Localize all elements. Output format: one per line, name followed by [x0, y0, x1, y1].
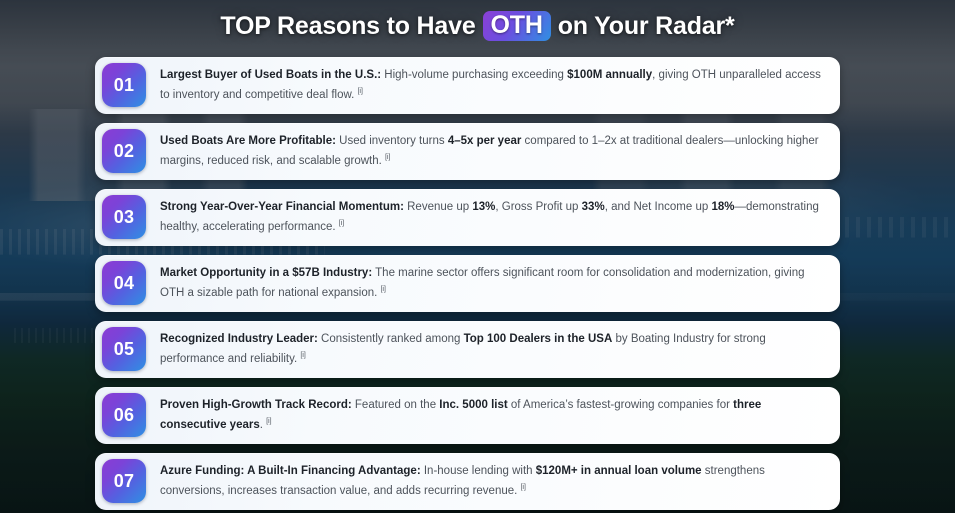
reason-card: 05Recognized Industry Leader: Consistent… — [95, 321, 840, 378]
reason-text: Used Boats Are More Profitable: Used inv… — [160, 132, 824, 170]
page-title-after: on Your Radar* — [558, 12, 735, 41]
reason-body-text: Consistently ranked among — [318, 333, 464, 345]
reason-card-body: Used Boats Are More Profitable: Used inv… — [146, 123, 840, 180]
reason-lead: Strong Year-Over-Year Financial Momentum… — [160, 201, 404, 213]
reason-card-body: Largest Buyer of Used Boats in the U.S.:… — [146, 57, 840, 114]
reason-card-body: Recognized Industry Leader: Consistently… — [146, 321, 840, 378]
footnote-marker[interactable]: [i] — [266, 416, 271, 425]
footnote-marker[interactable]: [i] — [381, 284, 386, 293]
reason-card-body: Proven High-Growth Track Record: Feature… — [146, 387, 840, 444]
reason-text: Market Opportunity in a $57B Industry: T… — [160, 264, 824, 302]
footnote-marker[interactable]: [i] — [339, 218, 344, 227]
reason-body-text: Featured on the — [352, 399, 440, 411]
reason-card-body: Strong Year-Over-Year Financial Momentum… — [146, 189, 840, 246]
reason-highlight: Inc. 5000 list — [439, 399, 507, 411]
reason-number-badge: 07 — [102, 459, 146, 503]
reason-text: Strong Year-Over-Year Financial Momentum… — [160, 198, 824, 236]
footnote-marker[interactable]: [i] — [300, 350, 305, 359]
reason-card: 07Azure Funding: A Built-In Financing Ad… — [95, 453, 840, 510]
reason-highlight: Top 100 Dealers in the USA — [464, 333, 613, 345]
page-root: TOP Reasons to Have OTH on Your Radar* 0… — [0, 0, 955, 513]
reason-text: Largest Buyer of Used Boats in the U.S.:… — [160, 66, 824, 104]
reason-card: 06Proven High-Growth Track Record: Featu… — [95, 387, 840, 444]
reason-lead: Market Opportunity in a $57B Industry: — [160, 267, 372, 279]
oth-brand-badge: OTH — [483, 11, 551, 41]
reason-card: 04Market Opportunity in a $57B Industry:… — [95, 255, 840, 312]
reason-body-text: Used inventory turns — [336, 135, 448, 147]
reason-text: Proven High-Growth Track Record: Feature… — [160, 396, 824, 434]
reason-highlight: 13% — [472, 201, 495, 213]
reasons-list: 01Largest Buyer of Used Boats in the U.S… — [95, 57, 840, 510]
reason-body-text: High-volume purchasing exceeding — [381, 69, 567, 81]
footnote-marker[interactable]: [i] — [358, 86, 363, 95]
reason-body-text: Revenue up — [404, 201, 472, 213]
reason-highlight: $100M annually — [567, 69, 652, 81]
reason-card: 02Used Boats Are More Profitable: Used i… — [95, 123, 840, 180]
reason-number-badge: 06 — [102, 393, 146, 437]
reason-card: 03Strong Year-Over-Year Financial Moment… — [95, 189, 840, 246]
page-title-before: TOP Reasons to Have — [220, 12, 475, 41]
reason-number-badge: 01 — [102, 63, 146, 107]
reason-card: 01Largest Buyer of Used Boats in the U.S… — [95, 57, 840, 114]
reason-lead: Largest Buyer of Used Boats in the U.S.: — [160, 69, 381, 81]
reason-card-body: Market Opportunity in a $57B Industry: T… — [146, 255, 840, 312]
reason-highlight: 4–5x per year — [448, 135, 522, 147]
reason-lead: Proven High-Growth Track Record: — [160, 399, 352, 411]
footnote-marker[interactable]: [i] — [385, 152, 390, 161]
reason-lead: Recognized Industry Leader: — [160, 333, 318, 345]
footnote-marker[interactable]: [i] — [521, 482, 526, 491]
reason-card-body: Azure Funding: A Built-In Financing Adva… — [146, 453, 840, 510]
reason-body-text: , Gross Profit up — [495, 201, 581, 213]
page-title: TOP Reasons to Have OTH on Your Radar* — [220, 11, 734, 41]
reason-lead: Used Boats Are More Profitable: — [160, 135, 336, 147]
reason-highlight: 18% — [711, 201, 734, 213]
reason-body-text: In-house lending with — [421, 465, 536, 477]
reason-lead: Azure Funding: A Built-In Financing Adva… — [160, 465, 421, 477]
reason-text: Azure Funding: A Built-In Financing Adva… — [160, 462, 824, 500]
reason-number-badge: 03 — [102, 195, 146, 239]
reason-number-badge: 05 — [102, 327, 146, 371]
page-header: TOP Reasons to Have OTH on Your Radar* — [0, 0, 955, 52]
reason-number-badge: 04 — [102, 261, 146, 305]
reason-highlight: $120M+ in annual loan volume — [536, 465, 702, 477]
reason-text: Recognized Industry Leader: Consistently… — [160, 330, 824, 368]
reason-body-text: , and Net Income up — [605, 201, 712, 213]
reason-body-text: of America’s fastest-growing companies f… — [508, 399, 733, 411]
reason-number-badge: 02 — [102, 129, 146, 173]
reason-highlight: 33% — [582, 201, 605, 213]
